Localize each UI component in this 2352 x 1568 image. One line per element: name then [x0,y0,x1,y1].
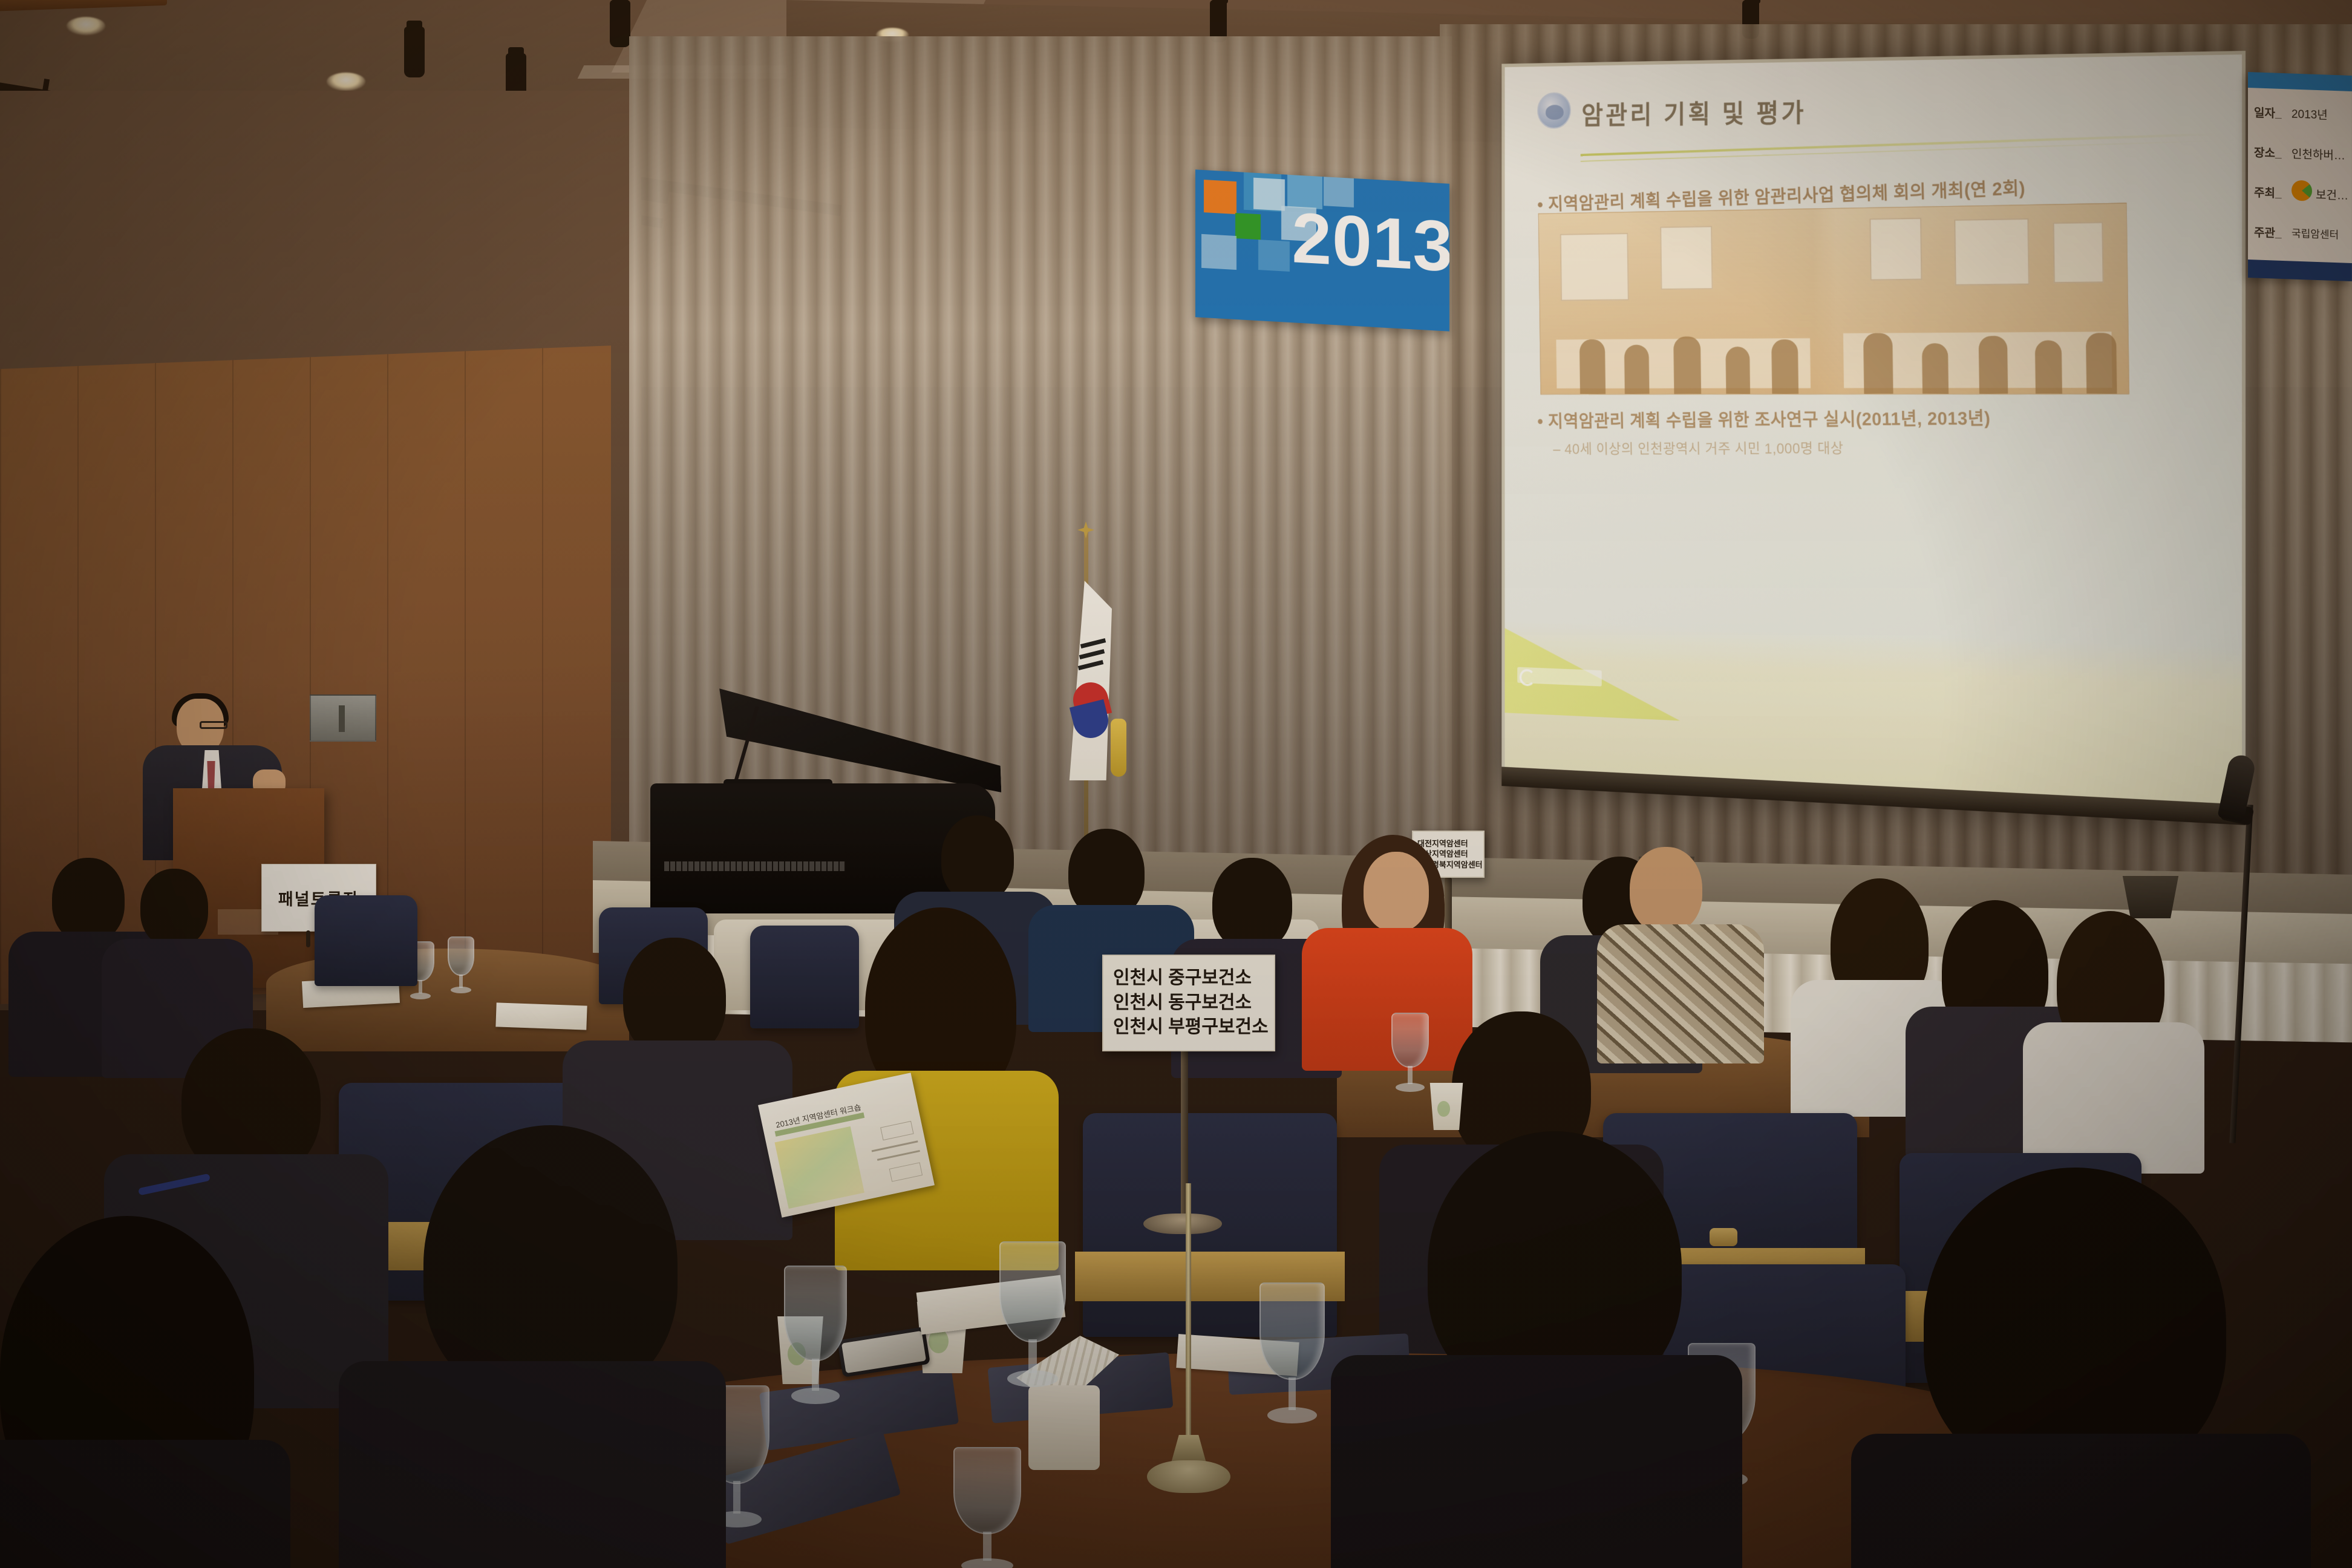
paper-sheet[interactable] [495,1002,587,1030]
slide-bullet-2: • 지역암관리 계획 수립을 위한 조사연구 실시(2011년, 2013년) [1537,403,1991,433]
ceiling-lamp [327,73,365,91]
attendee-head [52,858,125,942]
banner-value-date: 2013년 [2292,105,2328,123]
conference-hall-photo: 암관리 기획 및 평가 • 지역암관리 계획 수립을 위한 암관리사업 협의체 … [0,0,2352,1568]
glasses-icon [200,721,227,729]
sign-line: 인천시 중구보건소 [1113,966,1252,991]
piano-keys [664,861,846,871]
ceiling-lamp [67,17,105,35]
water-goblet[interactable] [953,1447,1021,1568]
flag-tassel [1111,719,1126,777]
napkin-holder[interactable] [1028,1385,1100,1470]
water-goblet[interactable] [999,1241,1066,1382]
curtain-left [629,36,1452,871]
host-logo-icon [2292,180,2312,201]
sign-line: 대전지역암센터 [1417,838,1468,849]
banner-value-host: 보건… [2316,186,2348,203]
attendee-head [941,815,1014,903]
water-goblet[interactable] [784,1266,847,1399]
attendee-head [1364,852,1429,932]
attendee-head [1212,858,1292,951]
banner-value-organizer: 국립암센터 [2292,225,2339,242]
banner-top-bar [2248,72,2352,91]
slide-footer-logo-icon [1517,667,1602,687]
slide-header: 암관리 기획 및 평가 [1537,77,2218,149]
spotlight-icon [610,0,630,47]
event-info-banner: 일자_ 2013년 장소_ 인천하버… 주최_ 보건… 주관_ 국립암센터 [2248,72,2352,281]
attendee-body-red-jacket [1302,928,1472,1071]
banner-label-host: 주최_ [2254,183,2282,201]
spotlight-icon [404,27,425,77]
banner-label-date: 일자_ [2254,103,2282,121]
slide-logo-icon [1537,92,1571,129]
slide-embedded-photo [1538,203,2129,394]
banner-year: 2013 [1292,197,1449,288]
attendee-head [1630,847,1702,933]
banner-label-organizer: 주관_ [2254,223,2282,241]
projected-slide: 암관리 기획 및 평가 • 지역암관리 계획 수립을 위한 암관리사업 협의체 … [1504,54,2242,805]
banner-label-place: 장소_ [2254,143,2282,161]
attendee-body [339,1361,726,1568]
chair[interactable] [750,926,859,1028]
candlestick-stand [1186,1183,1191,1474]
candlestick-base [1147,1460,1230,1493]
banner-bottom-bar [2248,260,2352,281]
projection-screen: 암관리 기획 및 평가 • 지역암관리 계획 수립을 위한 암관리사업 협의체 … [1501,51,2246,825]
slide-rule [1581,133,2221,157]
attendee-head [140,869,208,947]
handout-map [774,1126,864,1209]
table-sign-incheon-health-centers: 인천시 중구보건소 인천시 동구보건소 인천시 부평구보건소 [1102,955,1275,1051]
chair[interactable] [315,895,417,986]
water-goblet[interactable] [448,936,474,991]
paper-cup[interactable] [1428,1083,1465,1130]
attendee-body [0,1440,290,1568]
attendee-body [1331,1355,1742,1568]
slide-bullet-3: – 40세 이상의 인천광역시 거주 시민 1,000명 대상 [1553,437,1844,459]
water-goblet[interactable] [1259,1282,1325,1418]
attendee-body-plaid [1597,924,1764,1063]
attendee-body [2023,1022,2204,1174]
sign-line: 인천시 부평구보건소 [1113,1015,1269,1040]
wall-speaker-icon [310,694,376,742]
sign-line: 인천시 동구보건소 [1113,991,1252,1016]
banner-2013: 2013 [1195,169,1449,331]
sign-base [1143,1214,1222,1234]
water-goblet[interactable] [1391,1013,1429,1089]
slide-title: 암관리 기획 및 평가 [1581,92,1806,131]
attendee-body [1851,1434,2311,1568]
banner-value-place: 인천하버… [2292,145,2345,163]
